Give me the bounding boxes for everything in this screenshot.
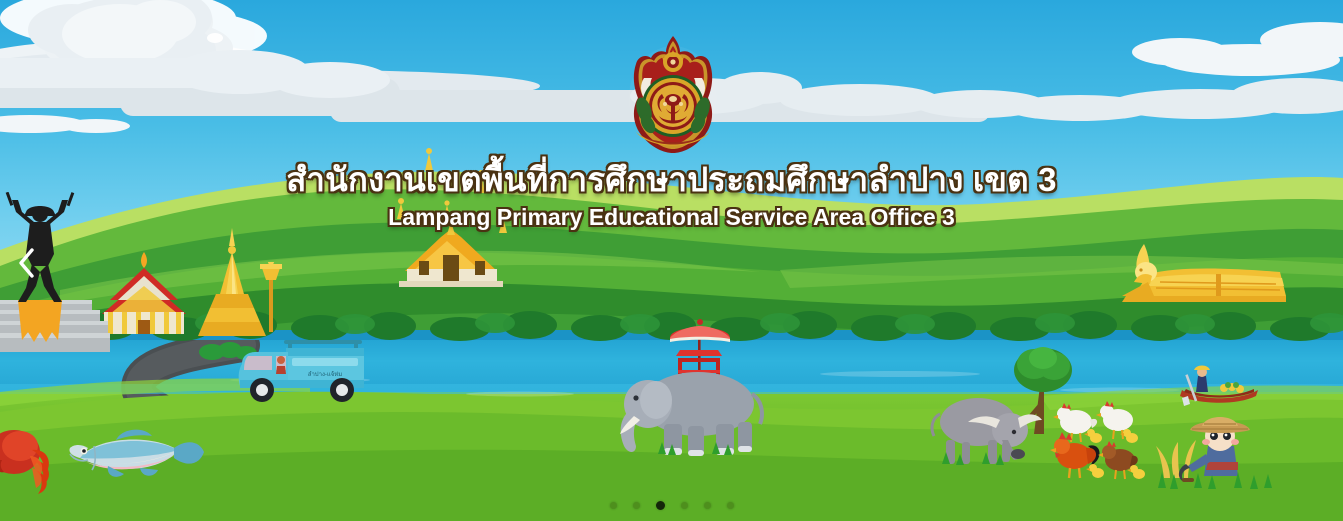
banner-title-english: Lampang Primary Educational Service Area… <box>0 204 1343 231</box>
elephant-with-howdah <box>612 312 792 462</box>
ministry-emblem <box>622 32 724 157</box>
golden-lamp-post <box>258 262 284 332</box>
reclining-buddha <box>1120 238 1290 308</box>
hero-banner-carousel[interactable]: ลำปาง-แจ้ห่ม <box>0 0 1343 521</box>
banner-title-block: สำนักงานเขตพื้นที่การศึกษาประถมศึกษาลำปา… <box>0 160 1343 231</box>
banner-title-thai: สำนักงานเขตพื้นที่การศึกษาประถมศึกษาลำปา… <box>0 160 1343 200</box>
truck-side-text: ลำปาง-แจ้ห่ม <box>308 371 342 378</box>
carousel-dot-1[interactable] <box>610 502 617 509</box>
carousel-dot-2[interactable] <box>633 502 640 509</box>
carousel-dots[interactable] <box>0 497 1343 513</box>
chevron-left-icon <box>16 247 36 279</box>
carousel-dot-4[interactable] <box>681 502 688 509</box>
songthaew-truck[interactable]: ลำปาง-แจ้ห่ม <box>232 336 372 408</box>
red-rooster-left <box>0 412 72 500</box>
carousel-dot-3[interactable] <box>656 501 665 510</box>
carousel-dot-6[interactable] <box>727 502 734 509</box>
farmer-harvesting-rice <box>1150 400 1280 490</box>
river-fish <box>60 418 208 492</box>
carousel-prev-button[interactable] <box>8 243 44 283</box>
carousel-dot-5[interactable] <box>704 502 711 509</box>
water-buffalo <box>922 388 1042 468</box>
